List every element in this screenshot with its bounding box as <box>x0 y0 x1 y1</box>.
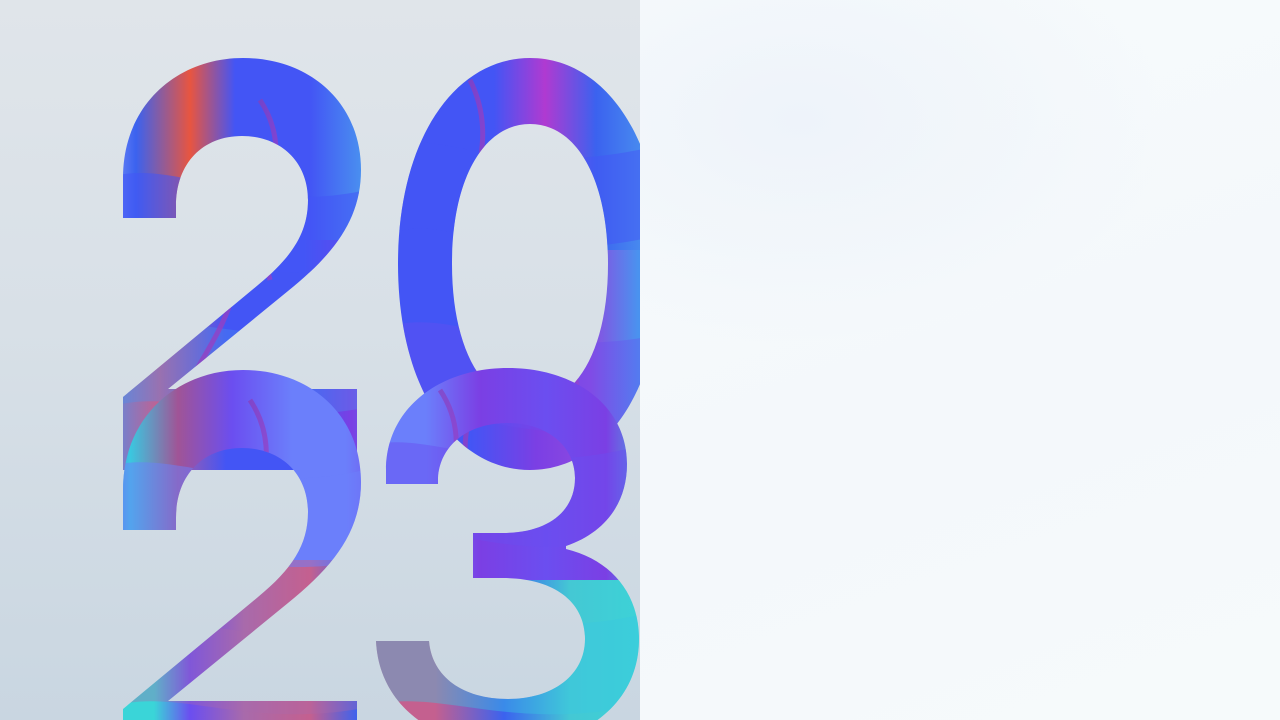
glyph-3-bottom <box>360 350 640 720</box>
content-panel: 2023 Manage your presentation task with … <box>640 0 1280 720</box>
artwork-panel <box>0 0 640 720</box>
presentation-slide: 2023 Manage your presentation task with … <box>0 0 1280 720</box>
year-2023-artwork <box>0 0 640 720</box>
